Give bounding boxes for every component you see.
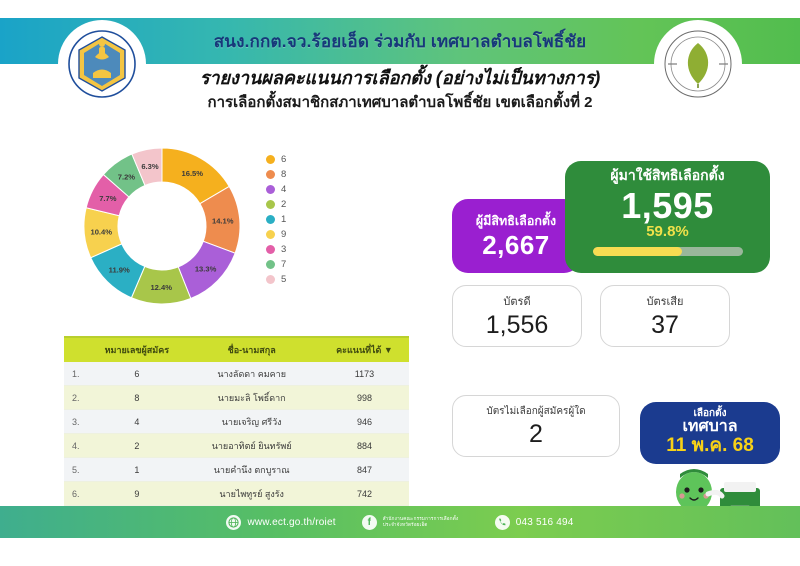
no-vote-ballots-value: 2 — [529, 420, 543, 449]
no-vote-ballots-label: บัตรไม่เลือกผู้สมัครผู้ใด — [486, 404, 585, 419]
legend-color-swatch — [266, 155, 275, 164]
void-ballots-card: บัตรเสีย 37 — [600, 285, 730, 347]
cell-candidate-number: 4 — [90, 410, 183, 434]
election-dashboard: สนง.กกต.จว.ร้อยเอ็ด ร่วมกับ เทศบาลตำบลโพ… — [0, 0, 800, 566]
legend-label: 3 — [281, 244, 286, 255]
turnout-label: ผู้มาใช้สิทธิเลือกตั้ง — [610, 165, 724, 187]
cell-candidate-name: นายเจริญ ศรีวัง — [183, 410, 320, 434]
donut-chart-svg: 16.5%14.1%13.3%12.4%11.9%10.4%7.7%7.2%6.… — [72, 136, 252, 316]
footer-facebook-text: สำนักงานคณะกรรมการการเลือกตั้งประจำจังหว… — [383, 516, 469, 528]
legend-item-6[interactable]: 6 — [266, 152, 286, 166]
eligible-voters-card: ผู้มีสิทธิเลือกตั้ง 2,667 — [452, 199, 580, 273]
legend-label: 7 — [281, 259, 286, 270]
table-row[interactable]: 1.6นางลัดดา คมคาย1173 — [64, 362, 409, 386]
column-header-candidate-number[interactable]: หมายเลขผู้สมัคร — [90, 338, 183, 362]
legend-color-swatch — [266, 230, 275, 239]
donut-label-5: 6.3% — [141, 162, 159, 171]
legend-label: 4 — [281, 184, 286, 195]
legend-label: 1 — [281, 214, 286, 225]
footer-phone-text: 043 516 494 — [516, 517, 574, 528]
badge-line-2: เทศบาล — [682, 419, 737, 436]
valid-ballots-value: 1,556 — [486, 311, 549, 340]
legend-color-swatch — [266, 170, 275, 179]
legend-item-4[interactable]: 4 — [266, 182, 286, 196]
legend-item-3[interactable]: 3 — [266, 242, 286, 256]
legend-label: 2 — [281, 199, 286, 210]
cell-candidate-name: นายอาทิตย์ ยินทรัพย์ — [183, 434, 320, 458]
page-title-block: รายงานผลคะแนนการเลือกตั้ง (อย่างไม่เป็นท… — [110, 66, 690, 115]
cell-candidate-number: 1 — [90, 458, 183, 482]
donut-chart: 16.5%14.1%13.3%12.4%11.9%10.4%7.7%7.2%6.… — [72, 136, 252, 316]
cell-candidate-name: นายไพทูรย์ สูงรัง — [183, 482, 320, 506]
valid-ballots-card: บัตรดี 1,556 — [452, 285, 582, 347]
legend-color-swatch — [266, 260, 275, 269]
donut-label-9: 10.4% — [90, 228, 112, 237]
cell-candidate-number: 6 — [90, 362, 183, 386]
footer-website-text: www.ect.go.th/roiet — [247, 517, 335, 528]
cell-candidate-name: นายคำนึง ตกบูราณ — [183, 458, 320, 482]
cell-rank: 6. — [64, 482, 90, 506]
cell-candidate-number: 9 — [90, 482, 183, 506]
valid-ballots-label: บัตรดี — [503, 292, 530, 310]
legend-color-swatch — [266, 215, 275, 224]
cell-candidate-score: 742 — [320, 482, 409, 506]
no-vote-ballots-card: บัตรไม่เลือกผู้สมัครผู้ใด 2 — [452, 395, 620, 457]
results-table: หมายเลขผู้สมัคร ชื่อ-นามสกุล คะแนนที่ได้… — [64, 336, 409, 531]
cell-candidate-score: 998 — [320, 386, 409, 410]
donut-slices[interactable] — [84, 148, 240, 304]
vote-share-chart: 16.5%14.1%13.3%12.4%11.9%10.4%7.7%7.2%6.… — [64, 134, 324, 319]
legend-label: 8 — [281, 169, 286, 180]
table-row[interactable]: 4.2นายอาทิตย์ ยินทรัพย์884 — [64, 434, 409, 458]
footer-bar: www.ect.go.th/roiet f สำนักงานคณะกรรมการ… — [0, 506, 800, 538]
void-ballots-label: บัตรเสีย — [647, 292, 684, 310]
column-header-score[interactable]: คะแนนที่ได้ ▼ — [320, 338, 409, 362]
legend-item-1[interactable]: 1 — [266, 212, 286, 226]
table-row[interactable]: 5.1นายคำนึง ตกบูราณ847 — [64, 458, 409, 482]
turnout-progress-bar: 1,595 — [593, 247, 743, 256]
legend-item-7[interactable]: 7 — [266, 257, 286, 271]
cell-rank: 5. — [64, 458, 90, 482]
page-subtitle: การเลือกตั้งสมาชิกสภาเทศบาลตำบลโพธิ์ชัย … — [110, 92, 690, 115]
table-row[interactable]: 2.8นายมะลิ โพธิ์ดาก998 — [64, 386, 409, 410]
table-header-row: หมายเลขผู้สมัคร ชื่อ-นามสกุล คะแนนที่ได้… — [64, 338, 409, 362]
phone-icon — [495, 515, 510, 530]
legend-color-swatch — [266, 245, 275, 254]
cell-candidate-score: 884 — [320, 434, 409, 458]
legend-label: 9 — [281, 229, 286, 240]
footer-phone[interactable]: 043 516 494 — [495, 515, 574, 530]
donut-label-8: 14.1% — [212, 217, 234, 226]
table-row[interactable]: 3.4นายเจริญ ศรีวัง946 — [64, 410, 409, 434]
footer-website[interactable]: www.ect.go.th/roiet — [226, 515, 335, 530]
legend-item-2[interactable]: 2 — [266, 197, 286, 211]
legend-item-8[interactable]: 8 — [266, 167, 286, 181]
eligible-voters-label: ผู้มีสิทธิเลือกตั้ง — [476, 211, 556, 231]
cell-candidate-score: 1173 — [320, 362, 409, 386]
turnout-progress-fill — [593, 247, 683, 256]
chart-legend: 684219375 — [266, 152, 286, 286]
cell-candidate-score: 847 — [320, 458, 409, 482]
footer-facebook[interactable]: f สำนักงานคณะกรรมการการเลือกตั้งประจำจัง… — [362, 515, 469, 530]
globe-icon — [226, 515, 241, 530]
cell-rank: 2. — [64, 386, 90, 410]
legend-label: 5 — [281, 274, 286, 285]
legend-label: 6 — [281, 154, 286, 165]
column-header-rank — [64, 338, 90, 362]
cell-candidate-number: 2 — [90, 434, 183, 458]
legend-item-9[interactable]: 9 — [266, 227, 286, 241]
legend-color-swatch — [266, 275, 275, 284]
donut-label-3: 7.7% — [99, 194, 117, 203]
legend-color-swatch — [266, 185, 275, 194]
facebook-icon: f — [362, 515, 377, 530]
cell-rank: 1. — [64, 362, 90, 386]
donut-label-1: 11.9% — [109, 265, 130, 274]
void-ballots-value: 37 — [651, 311, 679, 340]
legend-color-swatch — [266, 200, 275, 209]
cell-candidate-name: นางลัดดา คมคาย — [183, 362, 320, 386]
donut-label-7: 7.2% — [118, 172, 136, 181]
cell-rank: 4. — [64, 434, 90, 458]
legend-item-5[interactable]: 5 — [266, 272, 286, 286]
eligible-voters-value: 2,667 — [482, 230, 550, 261]
cell-candidate-score: 946 — [320, 410, 409, 434]
column-header-name[interactable]: ชื่อ-นามสกุล — [183, 338, 320, 362]
cell-candidate-name: นายมะลิ โพธิ์ดาก — [183, 386, 320, 410]
page-title: รายงานผลคะแนนการเลือกตั้ง (อย่างไม่เป็นท… — [110, 66, 690, 90]
donut-label-2: 12.4% — [150, 283, 172, 292]
table-row[interactable]: 6.9นายไพทูรย์ สูงรัง742 — [64, 482, 409, 506]
cell-candidate-number: 8 — [90, 386, 183, 410]
donut-label-6: 16.5% — [182, 169, 204, 178]
donut-label-4: 13.3% — [195, 265, 217, 274]
cell-rank: 3. — [64, 410, 90, 434]
turnout-percent: 59.8% — [646, 223, 689, 240]
turnout-value: 1,595 — [621, 187, 714, 225]
turnout-card: ผู้มาใช้สิทธิเลือกตั้ง 1,595 59.8% 1,595 — [565, 161, 770, 273]
